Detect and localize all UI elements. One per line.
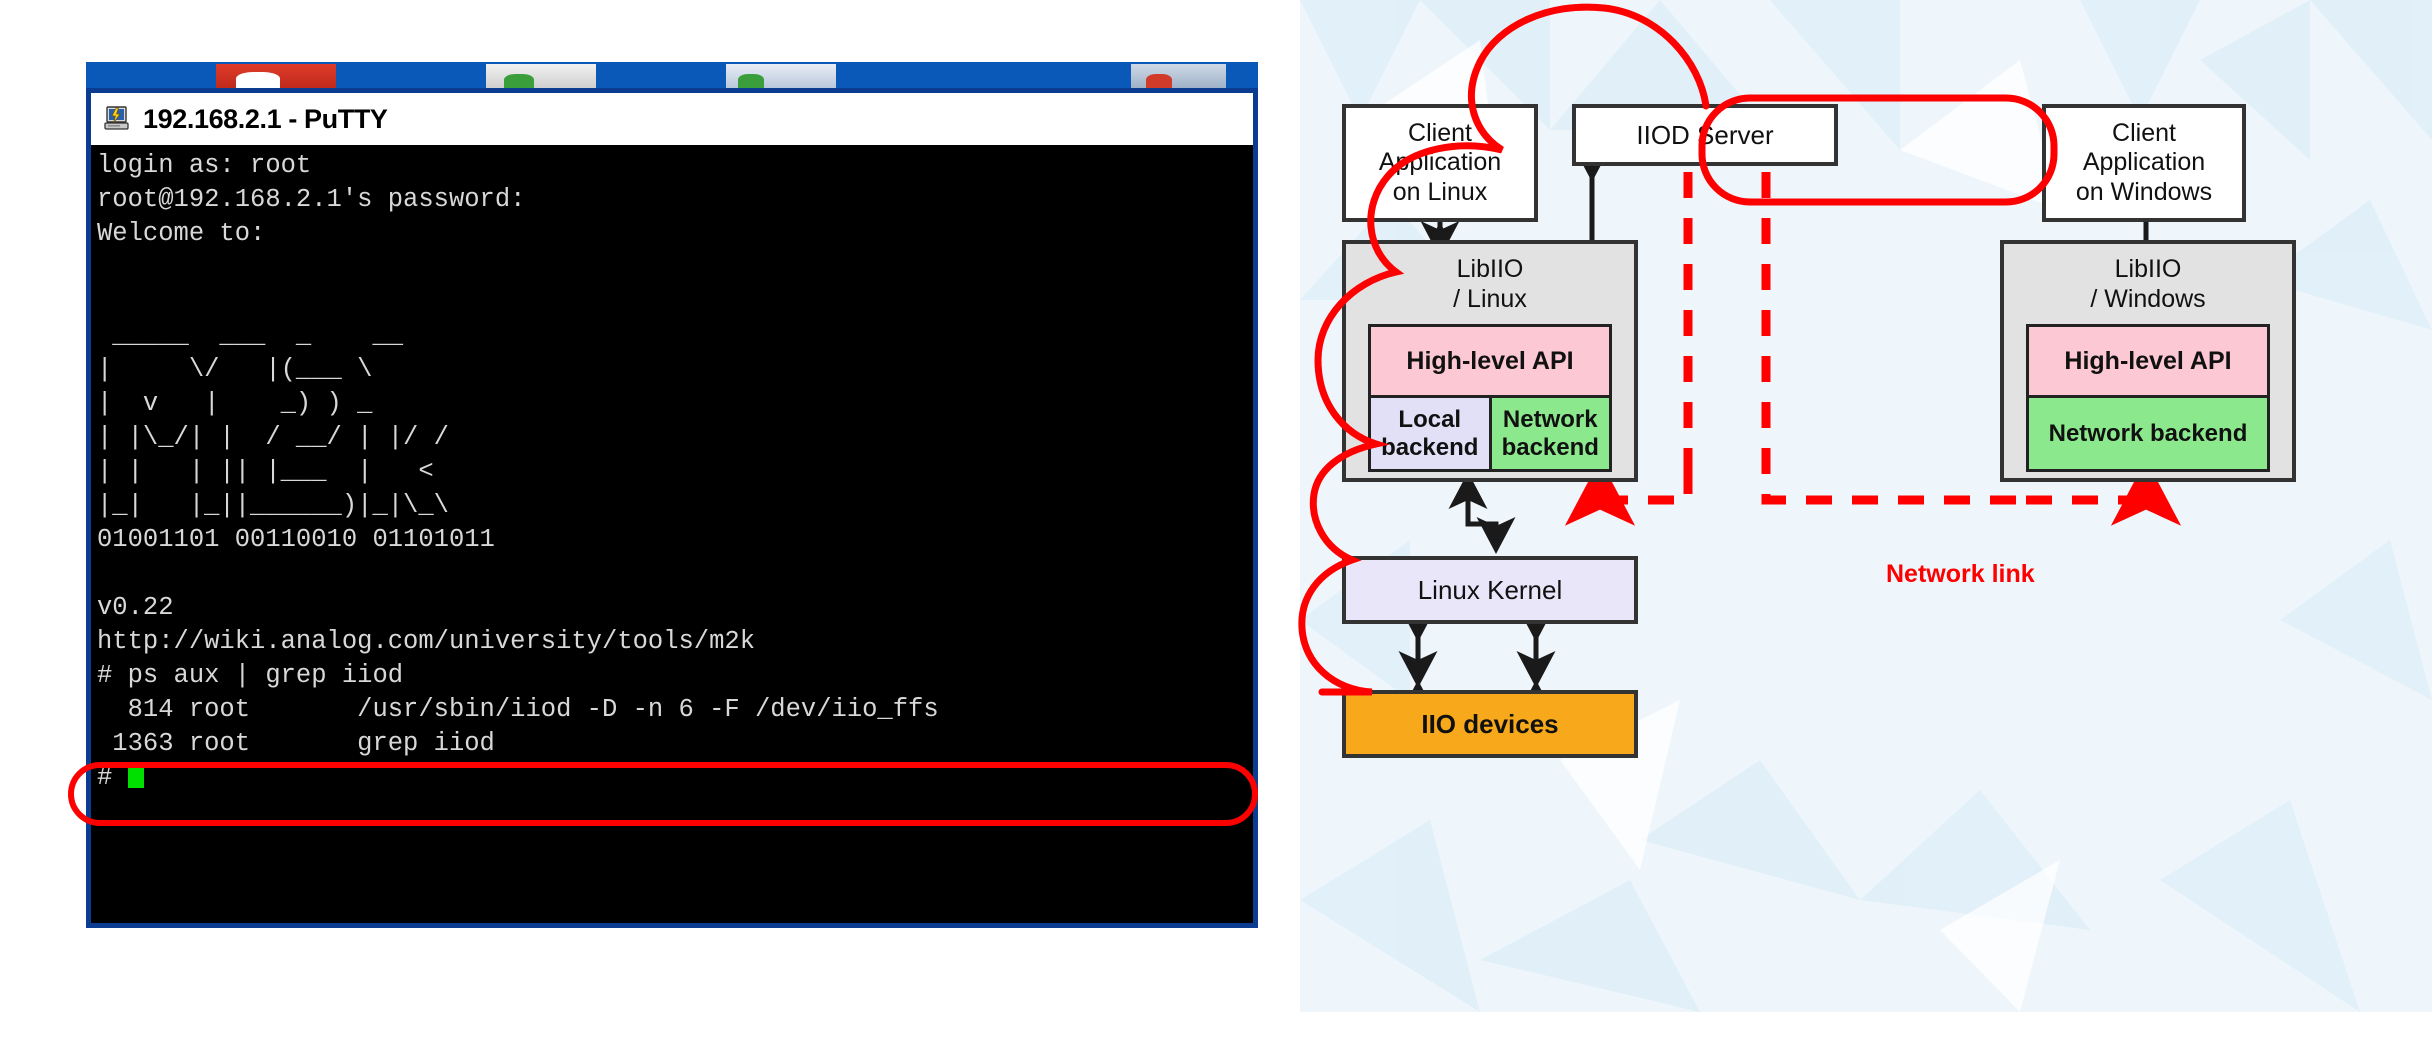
box-libiio-linux-label: LibIIO / Linux: [1346, 254, 1634, 314]
prompt-symbol: #: [97, 763, 112, 792]
box-iio-devices-label: IIO devices: [1421, 709, 1558, 740]
block-cursor: [128, 762, 144, 788]
terminal-text: login as: root root@192.168.2.1's passwo…: [97, 149, 1253, 761]
putty-computer-icon: [103, 104, 133, 134]
taskbar-icon-1-badge: [236, 72, 280, 88]
taskbar-icon-4-badge: [1146, 74, 1172, 88]
box-local-backend-label: Local backend: [1381, 406, 1478, 461]
box-high-level-api-linux[interactable]: High-level API: [1368, 324, 1612, 398]
putty-titlebar[interactable]: 192.168.2.1 - PuTTY: [91, 93, 1253, 145]
box-linux-kernel-label: Linux Kernel: [1418, 575, 1563, 606]
terminal-output-area[interactable]: login as: root root@192.168.2.1's passwo…: [91, 145, 1253, 923]
box-local-backend[interactable]: Local backend: [1368, 398, 1489, 472]
libiio-architecture-diagram: Client Application on Linux IIOD Server …: [1300, 0, 2432, 1012]
box-linux-kernel[interactable]: Linux Kernel: [1342, 556, 1638, 624]
box-network-backend-linux[interactable]: Network backend: [1489, 398, 1613, 472]
box-iio-devices[interactable]: IIO devices: [1342, 690, 1638, 758]
box-libiio-linux[interactable]: LibIIO / Linux High-level API Local back…: [1342, 240, 1638, 482]
network-link-label: Network link: [1886, 560, 2035, 589]
taskbar-icon-3-badge: [738, 74, 764, 88]
box-libiio-windows[interactable]: LibIIO / Windows High-level API Network …: [2000, 240, 2296, 482]
taskbar-icon-2-badge: [504, 74, 534, 88]
box-client-application-linux[interactable]: Client Application on Linux: [1342, 104, 1538, 222]
box-client-application-windows[interactable]: Client Application on Windows: [2042, 104, 2246, 222]
box-network-backend-linux-label: Network backend: [1502, 406, 1599, 461]
box-network-backend-windows[interactable]: Network backend: [2026, 398, 2270, 472]
box-libiio-windows-label: LibIIO / Windows: [2004, 254, 2292, 314]
desktop-taskbar-strip: [86, 62, 1258, 90]
box-client-application-linux-label: Client Application on Linux: [1379, 119, 1501, 208]
box-client-application-windows-label: Client Application on Windows: [2076, 119, 2212, 208]
backend-row-windows: Network backend: [2026, 398, 2270, 472]
backend-row-linux: Local backend Network backend: [1368, 398, 1612, 472]
box-iiod-server[interactable]: IIOD Server: [1572, 104, 1838, 166]
terminal-prompt-line: #: [97, 761, 1253, 795]
taskbar-icon-2: [486, 64, 596, 88]
putty-window[interactable]: 192.168.2.1 - PuTTY login as: root root@…: [86, 88, 1258, 928]
box-high-level-api-windows-label: High-level API: [2064, 347, 2231, 376]
box-high-level-api-windows[interactable]: High-level API: [2026, 324, 2270, 398]
box-iiod-server-label: IIOD Server: [1636, 120, 1773, 151]
box-high-level-api-linux-label: High-level API: [1406, 347, 1573, 376]
putty-title-text: 192.168.2.1 - PuTTY: [143, 104, 388, 135]
box-network-backend-windows-label: Network backend: [2049, 420, 2248, 448]
